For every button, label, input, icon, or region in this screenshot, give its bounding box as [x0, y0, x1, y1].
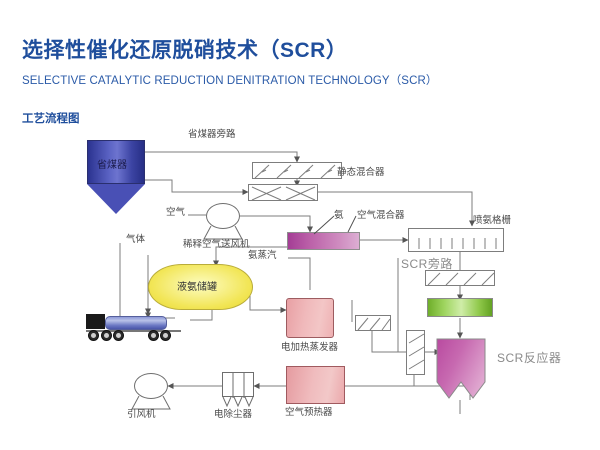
process-flow-diagram: 省煤器 省煤器旁路 静态混合器 空气 [0, 0, 600, 450]
dilution-air-fan-base-icon [202, 226, 244, 240]
tanker-truck-hub [116, 333, 121, 338]
liquid-ammonia-tank-label: 液氨储罐 [177, 283, 217, 293]
electric-heater-evaporator-body [286, 298, 334, 338]
ammonia-vapor-label: 氨蒸汽 [248, 251, 277, 261]
induced-draft-fan-base-icon [130, 396, 172, 410]
flue-gas-damper-upper [355, 315, 391, 331]
air-label: 空气 [166, 208, 185, 218]
scr-reactor-label: SCR反应器 [497, 352, 561, 364]
damper-blades-icon [356, 316, 392, 332]
electrostatic-precipitator-hoppers-icon [222, 396, 254, 407]
tanker-truck-tank [105, 316, 167, 330]
ammonia-air-mixer-label-ammonia: 氨 [334, 211, 344, 221]
esp-plates-icon [223, 373, 255, 398]
static-mixer-x-icon [249, 185, 319, 202]
damper-blades-icon [253, 163, 343, 180]
catalyst-block [427, 298, 493, 317]
dilution-air-fan-label: 稀释空气送风机 [183, 240, 250, 250]
tanker-truck-hub [104, 333, 109, 338]
gas-label: 气体 [126, 235, 145, 245]
static-mixer-label: 静态混合器 [337, 168, 385, 178]
damper-blades-icon [407, 331, 426, 376]
slide-canvas: 选择性催化还原脱硝技术（SCR） SELECTIVE CATALYTIC RED… [0, 0, 600, 450]
economizer-bypass-label: 省煤器旁路 [188, 130, 236, 140]
flue-gas-damper-vertical [406, 330, 425, 375]
damper-blades-icon [426, 271, 496, 287]
air-preheater-label: 空气预热器 [285, 408, 333, 418]
economizer-hopper [87, 184, 145, 214]
scr-reactor-body [436, 338, 486, 400]
tanker-truck-hub [163, 333, 168, 338]
ammonia-air-mixer-label-airmixer: 空气混合器 [357, 211, 405, 221]
electric-heater-evaporator-label: 电加热蒸发器 [281, 343, 338, 353]
scr-bypass-damper [425, 270, 495, 286]
air-preheater-body [286, 366, 345, 404]
static-mixer-body [248, 184, 318, 201]
electrostatic-precipitator-label: 电除尘器 [214, 410, 252, 420]
ammonia-injection-grid-label: 喷氨格栅 [473, 216, 511, 226]
economizer-label: 省煤器 [97, 156, 127, 171]
induced-draft-fan-label: 引风机 [127, 410, 156, 420]
electrostatic-precipitator-body [222, 372, 254, 397]
tanker-truck-cab [86, 314, 105, 329]
economizer-bypass-damper [252, 162, 342, 179]
scr-bypass-label: SCR旁路 [401, 258, 453, 270]
tanker-truck-hub [151, 333, 156, 338]
ammonia-injection-grid-body [408, 228, 504, 252]
aig-nozzle-ticks-icon [409, 229, 505, 253]
tanker-truck-hub [91, 333, 96, 338]
